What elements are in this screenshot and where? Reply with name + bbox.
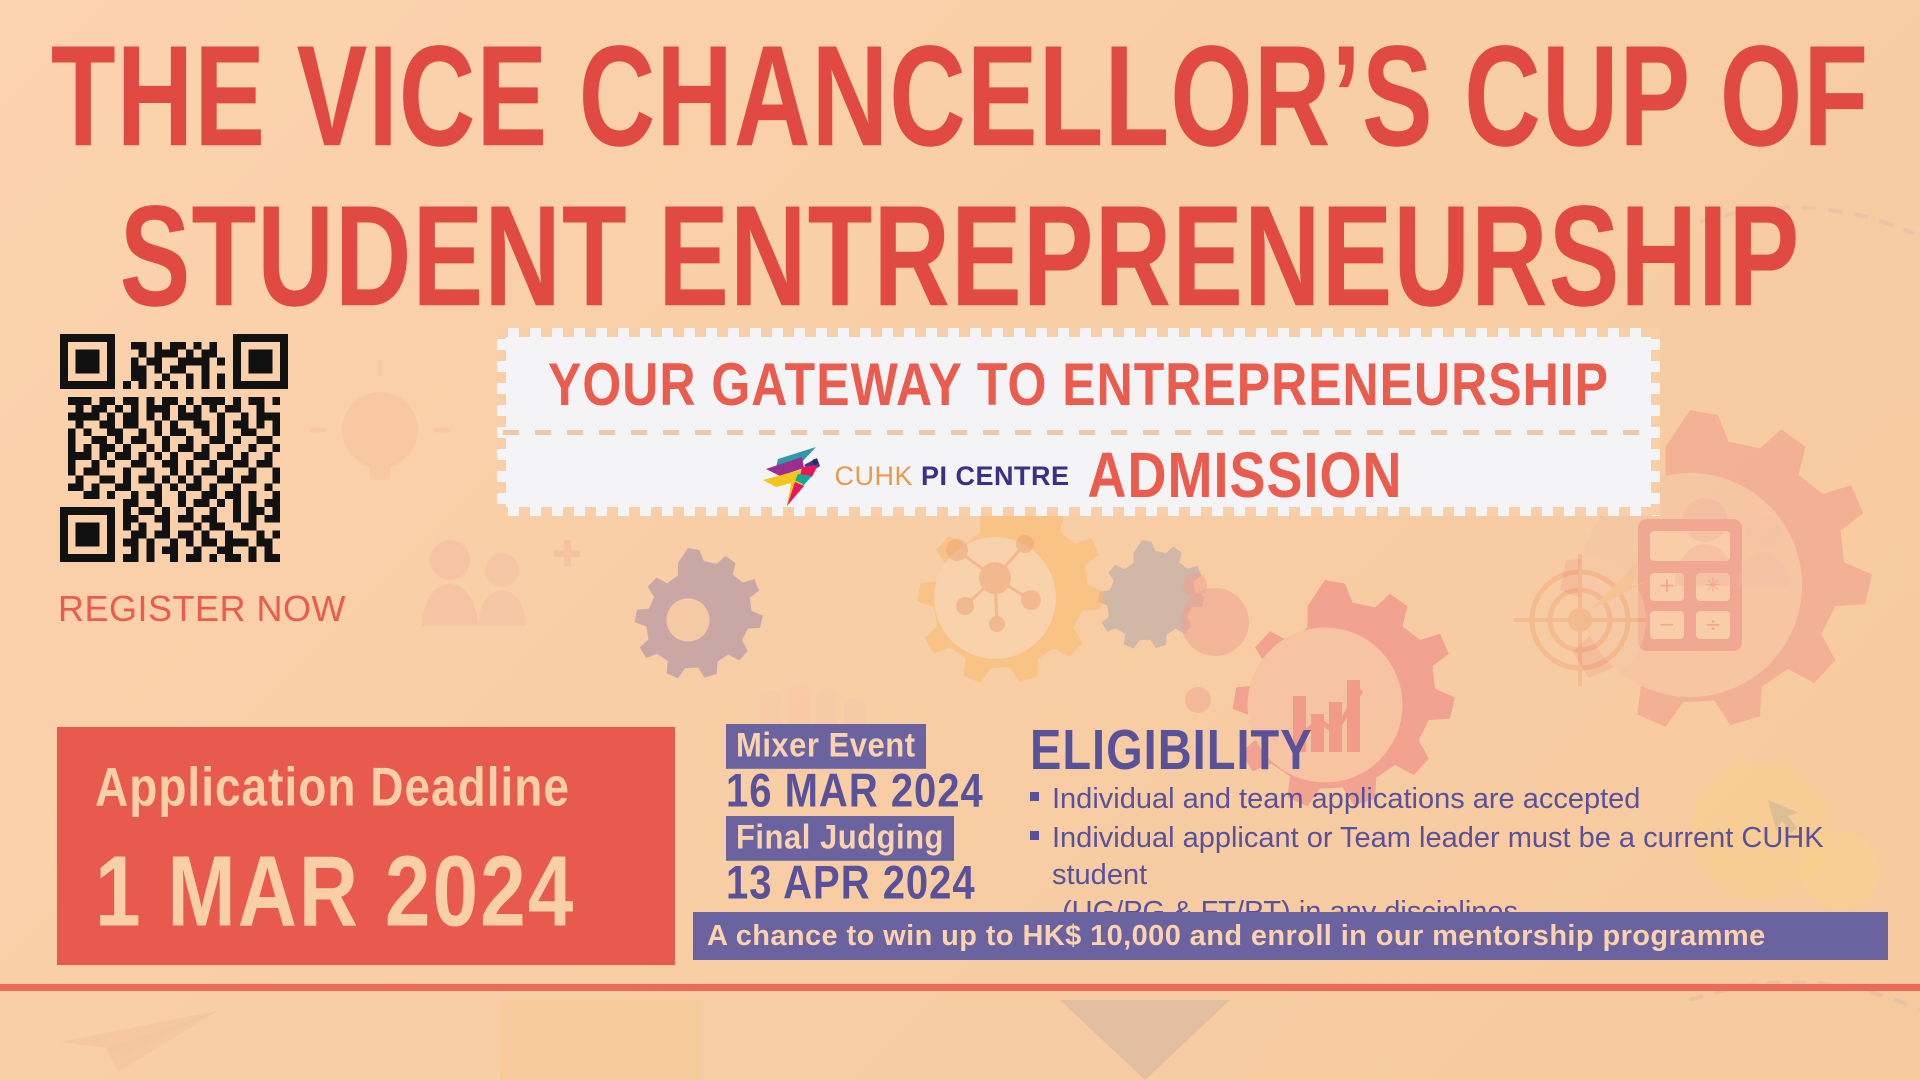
qr-code-svg[interactable] — [60, 334, 288, 562]
calculator-icon: + ✳ − ÷ — [1638, 519, 1742, 651]
footer-divider — [0, 984, 1920, 991]
date-entry-final-judging: Final Judging 13 APR 2024 — [726, 816, 996, 902]
gear-icon — [1098, 540, 1205, 649]
bullet-icon — [1030, 792, 1039, 801]
pi-centre-bird-icon — [754, 443, 826, 509]
cuhk-pi-centre-logo: CUHK PI CENTRE — [754, 443, 1069, 509]
svg-text:+: + — [1659, 573, 1676, 597]
gateway-banner: YOUR GATEWAY TO ENTREPRENEURSHIP CUHK — [497, 328, 1660, 516]
decor-circle — [1181, 588, 1249, 656]
bullet-icon — [1030, 831, 1039, 840]
network-icon — [946, 535, 1041, 632]
svg-text:−: − — [1659, 612, 1676, 636]
poster-headline: THE VICE CHANCELLOR’S CUP OF STUDENT ENT… — [0, 28, 1920, 290]
headline-line-2: STUDENT ENTREPRENEURSHIP — [0, 188, 1920, 329]
prize-banner: A chance to win up to HK$ 10,000 and enr… — [693, 912, 1888, 960]
headline-line-1: THE VICE CHANCELLOR’S CUP OF — [0, 28, 1920, 169]
list-item: Individual and team applications are acc… — [1030, 781, 1900, 818]
application-deadline-box: Application Deadline 1 MAR 2024 — [57, 727, 675, 965]
people-icon — [422, 540, 526, 626]
date-value-final-judging: 13 APR 2024 — [726, 857, 996, 910]
eligibility-item-text: Individual and team applications are acc… — [1052, 783, 1640, 815]
logo-text-pi-centre: PI CENTRE — [921, 461, 1070, 491]
admission-label: ADMISSION — [1088, 439, 1403, 512]
date-tag-mixer: Mixer Event — [726, 724, 926, 769]
gear-icon — [917, 493, 1104, 683]
prize-text: A chance to win up to HK$ 10,000 and enr… — [693, 920, 1766, 953]
date-value-mixer: 16 MAR 2024 — [726, 765, 996, 818]
deadline-label: Application Deadline — [95, 755, 570, 819]
date-entry-mixer: Mixer Event 16 MAR 2024 — [726, 724, 996, 810]
svg-text:✳: ✳ — [1705, 573, 1722, 597]
eligibility-item-text: Individual applicant or Team leader must… — [1052, 822, 1824, 891]
target-icon — [1514, 554, 1650, 686]
date-tag-final-judging: Final Judging — [726, 816, 954, 861]
people-icon — [1675, 498, 1789, 588]
register-now-label: REGISTER NOW — [58, 588, 346, 630]
banner-title: YOUR GATEWAY TO ENTREPRENEURSHIP — [497, 350, 1660, 420]
qr-code-icon[interactable] — [60, 334, 288, 562]
svg-text:÷: ÷ — [1705, 612, 1722, 636]
eligibility-list: Individual and team applications are acc… — [1030, 781, 1900, 931]
footer: 博文約 香港中文大學 The Chinese University of Hon… — [0, 991, 1920, 1080]
poster-canvas: + ✳ − ÷ — [0, 0, 1920, 1080]
logo-text-cuhk: CUHK — [834, 461, 913, 491]
decor-circle — [1183, 573, 1207, 597]
eligibility-section: ELIGIBILITY Individual and team applicat… — [1030, 716, 1900, 933]
key-dates-list: Mixer Event 16 MAR 2024 Final Judging 13… — [726, 724, 996, 908]
lightbulb-icon — [312, 362, 448, 480]
eligibility-title: ELIGIBILITY — [1030, 716, 1900, 782]
gear-icon — [635, 548, 763, 678]
decor-circle — [1185, 687, 1211, 713]
banner-dashed-divider — [503, 430, 1654, 435]
deadline-date: 1 MAR 2024 — [95, 835, 575, 950]
